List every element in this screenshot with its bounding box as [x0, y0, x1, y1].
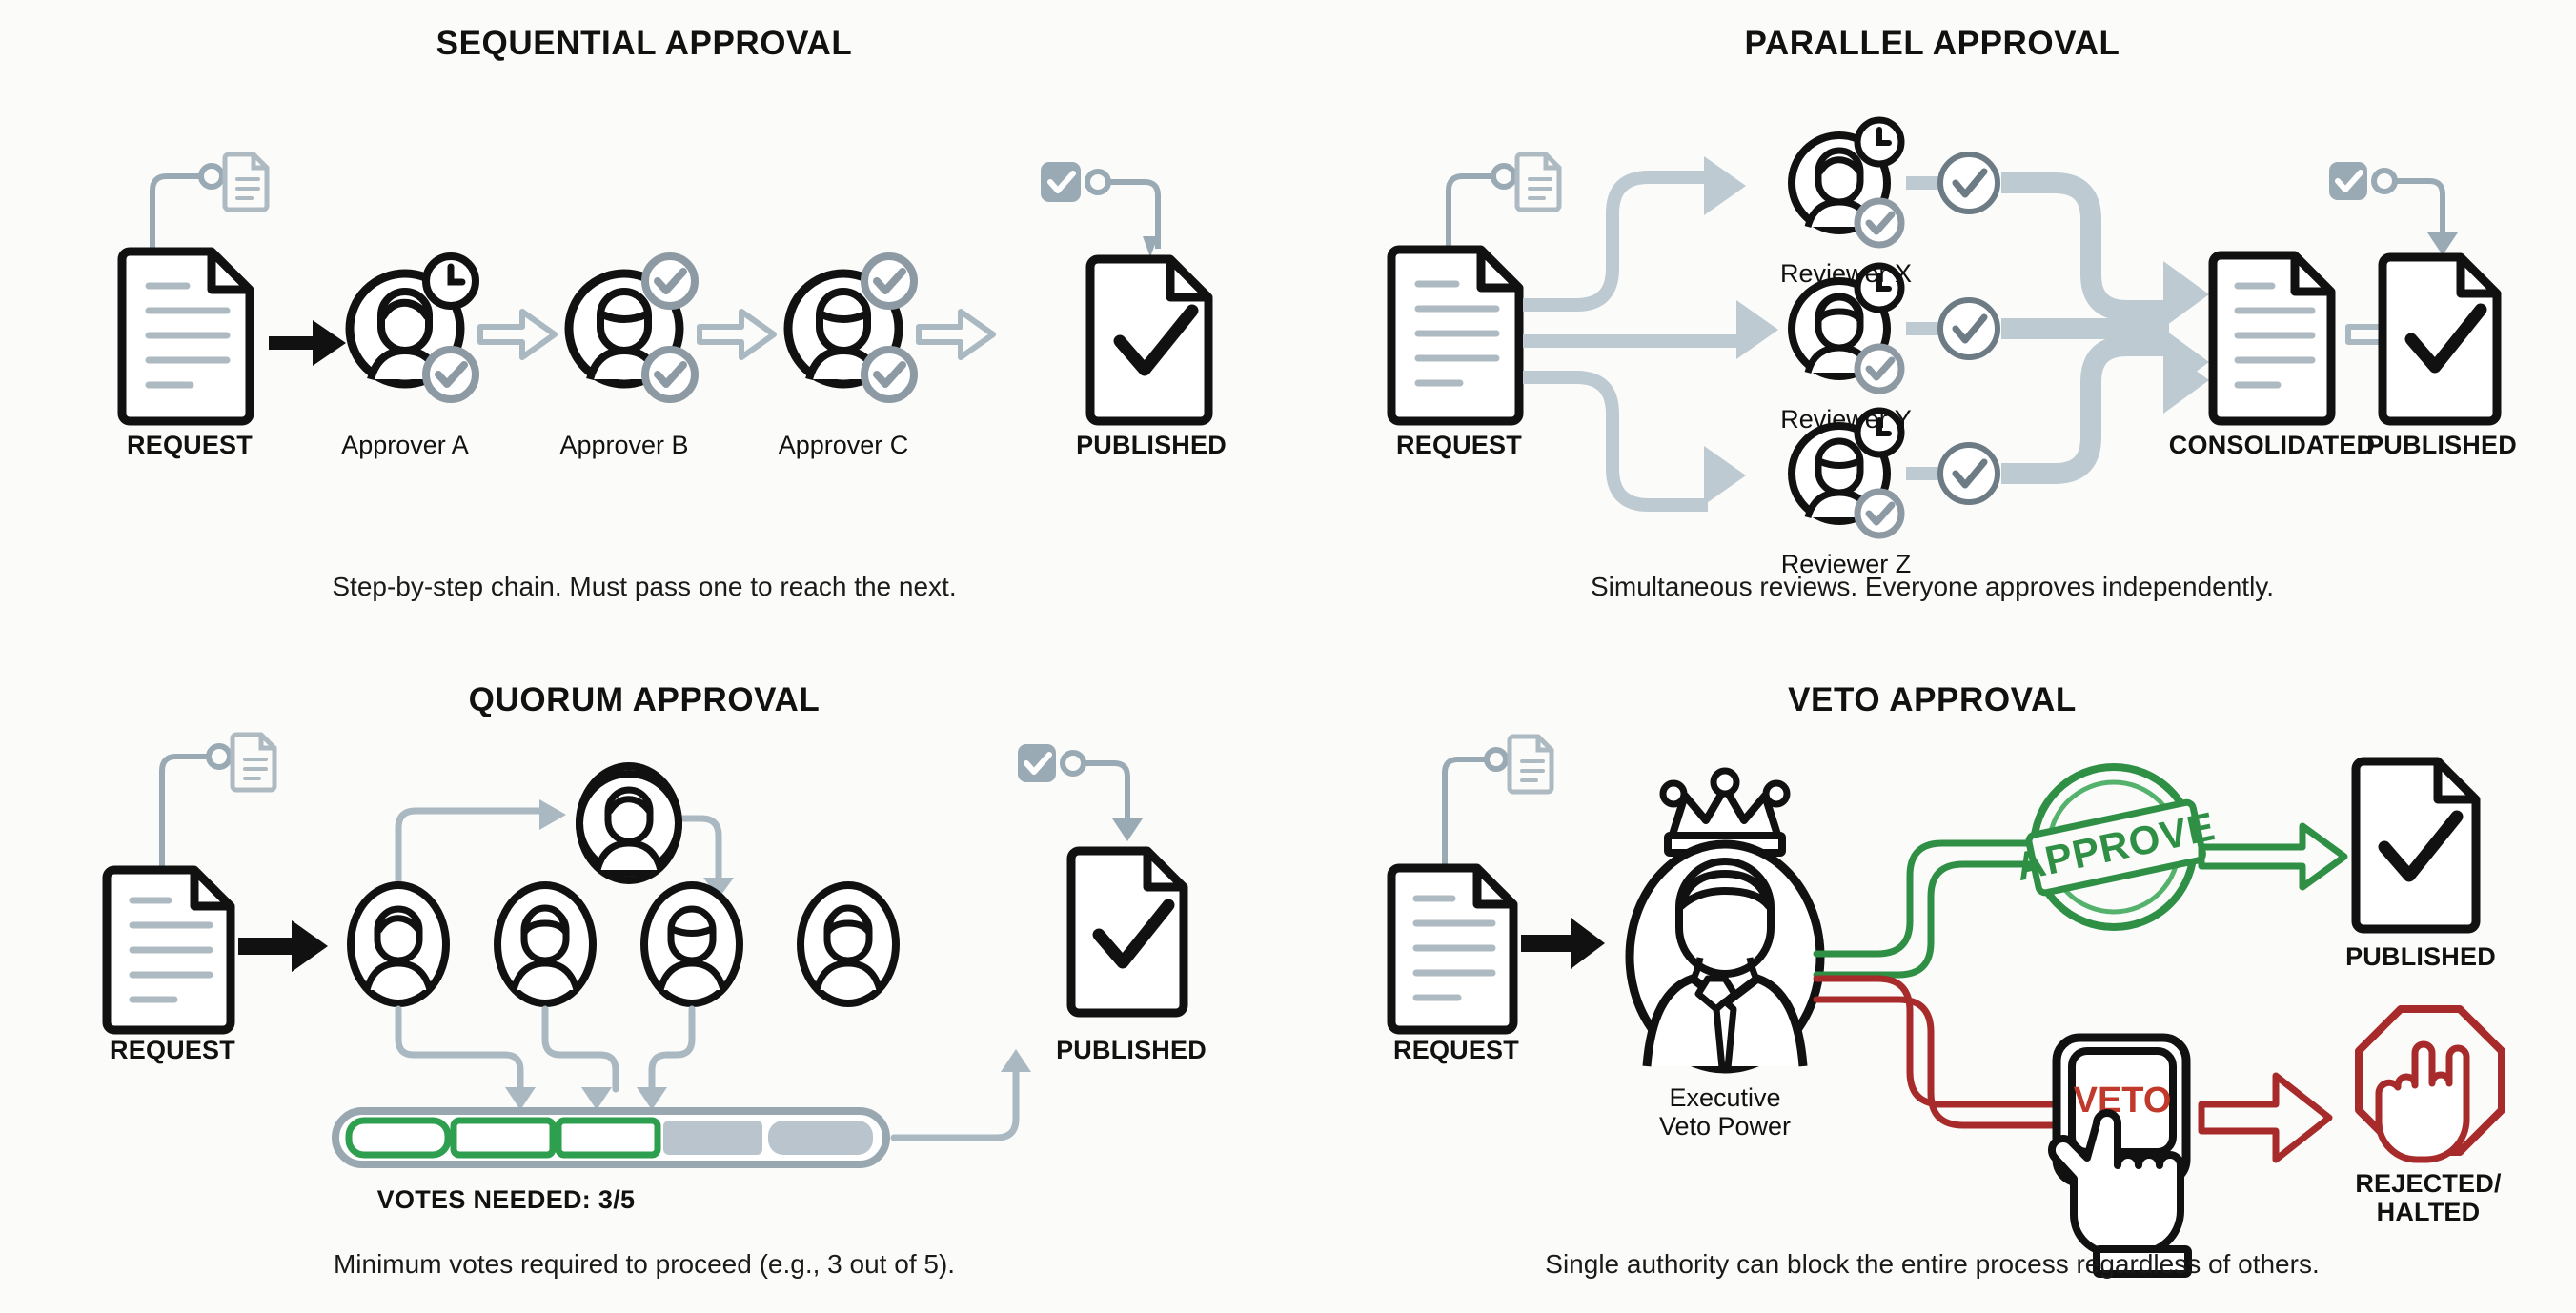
check-badge [1857, 347, 1901, 391]
label-request: REQUEST [110, 1036, 235, 1064]
vote-segment-filled [349, 1121, 448, 1155]
check-badge [1857, 201, 1901, 245]
merge-arrows [2001, 183, 2169, 474]
label-published: PUBLISHED [1076, 431, 1227, 459]
label-published: PUBLISHED [2366, 431, 2517, 459]
fanout-arrowheads [1704, 156, 1778, 505]
clock-badge [1857, 120, 1901, 164]
votes-needed-label: VOTES NEEDED: 3/5 [0, 1185, 1288, 1215]
panel-sequential: SEQUENTIAL APPROVAL [0, 0, 1288, 656]
arrow-approver-a-to-b [480, 312, 555, 357]
label-reviewer-x: Reviewer X [1780, 259, 1912, 288]
label-executive: Executive Veto Power [1659, 1083, 1791, 1141]
panel-veto: VETO APPROVAL [1288, 656, 2576, 1313]
caption-quorum: Minimum votes required to proceed (e.g.,… [0, 1249, 1288, 1280]
check-badge [645, 350, 695, 399]
document-tag-icon [1445, 737, 1552, 868]
check-badge [426, 350, 476, 399]
checkbox-tag-icon [1041, 162, 1158, 257]
arrow-votes-to-published [894, 1049, 1031, 1138]
check-badge [864, 256, 914, 306]
avatar-icon-reviewer-x [1792, 120, 1901, 245]
document-icon-request [107, 870, 231, 1030]
checkbox-tag-icon [1018, 744, 1143, 841]
label-consolidated: CONSOLIDATED [2169, 431, 2375, 459]
document-check-icon-published [2356, 761, 2476, 929]
avatar-icon-approver-c [788, 256, 914, 399]
quorum-progress-bar [335, 1111, 886, 1164]
crowned-avatar-icon-executive [1630, 771, 1820, 1069]
merge-arrowheads [2163, 261, 2209, 414]
arrow-approver-c-to-published [919, 312, 993, 357]
vote-arrowheads [505, 1087, 667, 1110]
label-approver-b: Approver B [559, 431, 688, 459]
label-approver-a: Approver A [341, 431, 469, 459]
avatar-icon-voter-3 [644, 885, 740, 1003]
approve-check-y [1906, 300, 1998, 357]
panel-parallel: PARALLEL APPROVAL [1288, 0, 2576, 656]
caption-sequential: Step-by-step chain. Must pass one to rea… [0, 572, 1288, 602]
vote-segment-empty [768, 1121, 873, 1155]
label-reviewer-y: Reviewer Y [1780, 405, 1912, 434]
document-icon-consolidated [2213, 255, 2331, 421]
document-tag-icon [162, 735, 274, 871]
parallel-stage [1288, 0, 2576, 656]
check-badge [645, 256, 695, 306]
label-request: REQUEST [127, 431, 253, 459]
caption-parallel: Simultaneous reviews. Everyone approves … [1288, 572, 2576, 602]
document-check-icon-published [2383, 257, 2497, 421]
vote-segment-filled [454, 1121, 553, 1155]
arrow-veto-to-rejected [2201, 1076, 2329, 1160]
vote-segment-filled [558, 1121, 658, 1155]
document-icon-request [1391, 250, 1519, 421]
arrow-approver-b-to-c [700, 312, 774, 357]
approve-check-x [1906, 154, 1998, 212]
avatar-icon-approver-b [569, 256, 695, 399]
label-published: PUBLISHED [2345, 942, 2496, 971]
label-published: PUBLISHED [1056, 1036, 1207, 1064]
arrow-request-to-voters [238, 920, 328, 972]
arrow-approve-to-published [2201, 826, 2344, 887]
vote-arrows [398, 1009, 692, 1089]
document-icon-request [122, 252, 250, 421]
document-tag-icon [152, 154, 267, 252]
clock-badge [426, 256, 476, 306]
branch-veto-path [1816, 979, 2060, 1125]
panel-quorum: QUORUM APPROVAL [0, 656, 1288, 1313]
label-request: REQUEST [1396, 431, 1522, 459]
diagram-grid: SEQUENTIAL APPROVAL [0, 0, 2576, 1313]
arrow-request-to-executive [1521, 918, 1605, 969]
checkbox-tag-icon [2329, 162, 2458, 255]
document-icon-request [1391, 868, 1513, 1030]
approve-stamp-icon: APPROVE [2011, 767, 2221, 927]
label-rejected: REJECTED/ HALTED [2355, 1169, 2501, 1226]
document-check-icon-published [1090, 259, 1208, 421]
avatar-icon-voter-2 [497, 885, 593, 1003]
arrow-request-to-approver-a [269, 320, 346, 366]
label-request: REQUEST [1393, 1036, 1519, 1064]
caption-veto: Single authority can block the entire pr… [1288, 1249, 2576, 1280]
sequential-stage [0, 0, 1288, 656]
check-badge [864, 350, 914, 399]
avatar-icon-voter-4 [801, 885, 896, 1003]
stop-hand-icon [2359, 1009, 2502, 1160]
document-check-icon-published [1071, 851, 1184, 1013]
avatar-icon-voter-top [579, 766, 679, 880]
veto-button-label: VETO [2074, 1081, 2172, 1121]
check-badge [1857, 492, 1901, 535]
label-approver-c: Approver C [779, 431, 909, 459]
avatar-icon-voter-1 [351, 885, 446, 1003]
vote-segment-empty [663, 1121, 762, 1155]
avatar-icon-approver-a [350, 256, 476, 399]
approve-check-z [1906, 445, 1998, 502]
